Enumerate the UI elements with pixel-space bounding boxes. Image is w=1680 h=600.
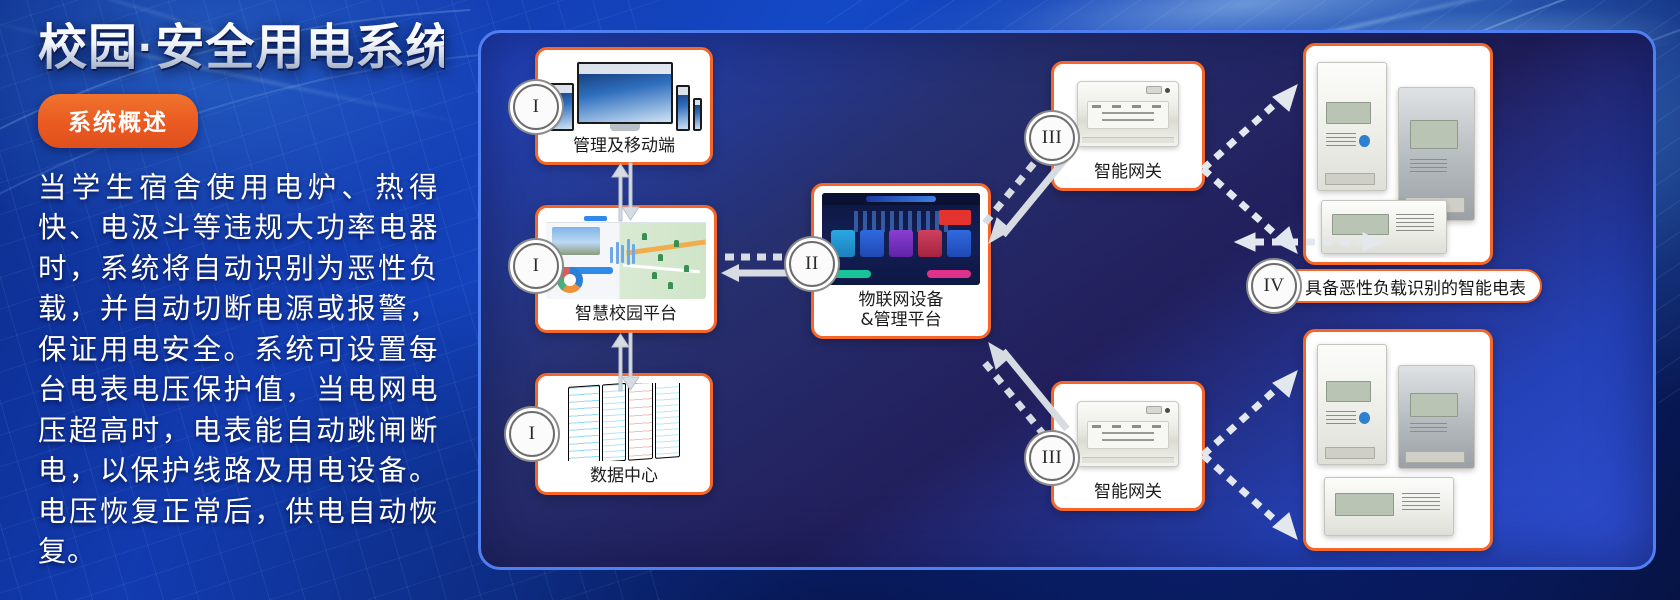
phone-screen-icon xyxy=(693,98,702,131)
thumb-header xyxy=(822,193,980,205)
usb-port-icon xyxy=(1146,406,1162,414)
connector-gateway-bottom-meters xyxy=(1193,355,1313,555)
meter-terminal xyxy=(1405,451,1465,463)
din-rail xyxy=(1082,137,1175,143)
meter-label xyxy=(1410,423,1448,435)
architecture-diagram-panel: 管理及移动端 I xyxy=(478,30,1656,570)
poster-stage: 校园·安全用电系统 系统概述 当学生宿舍使用电炉、热得快、电汲斗等违规大功率电器… xyxy=(0,0,1680,600)
thumb-bar xyxy=(621,245,624,263)
meters-legend-label[interactable]: 具备恶性负载识别的智能电表 xyxy=(1263,269,1542,303)
meter-label xyxy=(1410,159,1448,175)
thumb-pill xyxy=(927,270,971,278)
thumb-header-chip xyxy=(866,196,936,203)
smart-meter-icon xyxy=(1317,344,1387,465)
thumb-topbar xyxy=(546,215,706,223)
led-indicator-icon xyxy=(1165,88,1170,93)
meter-label xyxy=(1326,133,1356,148)
map-pin xyxy=(684,265,689,272)
thumb-tile xyxy=(947,230,971,258)
thumb-bar xyxy=(632,244,635,264)
meter-lcd xyxy=(1332,214,1389,235)
map-road xyxy=(626,240,706,256)
server-rack-icon xyxy=(568,383,680,461)
thumb-bar xyxy=(627,239,630,265)
din-rail xyxy=(1082,457,1175,463)
step-badge-3-gateway-bottom: III xyxy=(1029,435,1075,481)
node-card-gateway-top[interactable]: 智能网关 xyxy=(1051,61,1205,191)
meter-lcd xyxy=(1326,381,1371,402)
meter-lcd xyxy=(1326,102,1371,125)
map-pin xyxy=(658,254,663,261)
iot-platform-thumbnail xyxy=(822,193,980,285)
node-card-campus[interactable]: 智慧校园平台 xyxy=(535,205,717,333)
thumb-alert-panel xyxy=(939,210,971,225)
thumb-tab xyxy=(584,216,606,221)
smart-meters-thumbnail-bottom xyxy=(1310,336,1486,544)
node-caption-campus: 智慧校园平台 xyxy=(575,299,677,324)
meter-label xyxy=(1396,214,1433,233)
led-indicator-icon xyxy=(1165,408,1170,413)
smart-gateway-icon xyxy=(1077,401,1180,466)
smart-meter-icon xyxy=(1324,477,1454,535)
meters-legend-text: 具备恶性负载识别的智能电表 xyxy=(1305,274,1526,299)
thumb-photo xyxy=(552,227,600,256)
thumb-pill xyxy=(877,270,921,278)
meter-terminal xyxy=(1325,173,1376,186)
smart-meter-icon xyxy=(1321,200,1448,254)
smart-meter-icon xyxy=(1317,62,1387,191)
devices-thumbnail xyxy=(546,57,702,131)
gateway-faceplate xyxy=(1087,101,1170,129)
meter-label xyxy=(1326,411,1356,425)
thumb-bar xyxy=(616,242,619,264)
connector-gateway-top-meters xyxy=(1193,69,1313,269)
meter-lcd xyxy=(1410,120,1458,149)
node-card-datacenter[interactable]: 数据中心 xyxy=(535,373,713,495)
thumb-tile xyxy=(889,230,913,258)
datacenter-thumbnail xyxy=(546,383,702,461)
thumb-bar xyxy=(610,247,613,263)
map-pin xyxy=(642,233,647,240)
thumb-pill xyxy=(831,270,871,278)
thumb-footer xyxy=(831,270,970,278)
step-badge-1-datacenter: I xyxy=(509,411,555,457)
node-caption-datacenter: 数据中心 xyxy=(590,461,658,486)
intro-pane: 校园·安全用电系统 系统概述 当学生宿舍使用电炉、热得快、电汲斗等违规大功率电器… xyxy=(0,0,470,600)
thumb-tile xyxy=(918,230,942,258)
step-badge-3-gateway-top: III xyxy=(1029,115,1075,161)
map-pin xyxy=(652,272,657,279)
node-card-admin[interactable]: 管理及移动端 xyxy=(535,47,713,165)
usb-port-icon xyxy=(1146,86,1162,94)
node-card-meters-bottom[interactable] xyxy=(1303,329,1493,551)
node-caption-gateway-top: 智能网关 xyxy=(1094,157,1162,182)
campus-platform-thumbnail xyxy=(546,215,706,299)
map-pin xyxy=(674,240,679,247)
node-card-iot[interactable]: 物联网设备 &管理平台 xyxy=(811,183,991,339)
status-badge: 系统概述 xyxy=(38,94,198,148)
meter-terminal xyxy=(1325,447,1376,459)
meter-lcd xyxy=(1335,493,1394,515)
thumb-donut-chart xyxy=(557,267,583,293)
meter-knob xyxy=(1359,412,1370,424)
node-caption-gateway-bottom: 智能网关 xyxy=(1094,477,1162,502)
meter-lcd xyxy=(1410,393,1458,417)
node-caption-iot: 物联网设备 &管理平台 xyxy=(859,285,944,330)
step-badge-4-meters: IV xyxy=(1251,263,1297,309)
smart-meter-icon xyxy=(1398,365,1475,469)
node-card-meters-top[interactable] xyxy=(1303,43,1493,265)
monitor-screen-icon xyxy=(577,62,673,124)
page-title: 校园·安全用电系统 xyxy=(38,22,444,76)
meter-knob xyxy=(1359,135,1370,148)
gateway-faceplate xyxy=(1087,421,1170,449)
node-card-gateway-bottom[interactable]: 智能网关 xyxy=(1051,381,1205,511)
step-badge-1-admin: I xyxy=(513,84,559,130)
thumb-tiles xyxy=(831,230,970,258)
thumb-skyline xyxy=(854,211,949,231)
smart-gateway-icon xyxy=(1077,81,1180,146)
meter-label xyxy=(1402,493,1440,513)
gateway-thumbnail-top xyxy=(1062,71,1194,157)
tablet-screen-icon xyxy=(676,85,690,131)
step-badge-2-iot: II xyxy=(789,241,835,287)
gateway-thumbnail-bottom xyxy=(1062,391,1194,477)
map-pin xyxy=(668,282,673,289)
smart-meters-thumbnail-top xyxy=(1310,50,1486,258)
thumb-tile xyxy=(860,230,884,258)
thumb-tile xyxy=(831,230,855,258)
monitor-stand-icon xyxy=(610,124,640,131)
step-badge-1-campus: I xyxy=(513,243,559,289)
node-caption-admin: 管理及移动端 xyxy=(573,131,675,156)
overview-paragraph: 当学生宿舍使用电炉、热得快、电汲斗等违规大功率电器时，系统将自动识别为恶性负载，… xyxy=(38,168,438,573)
